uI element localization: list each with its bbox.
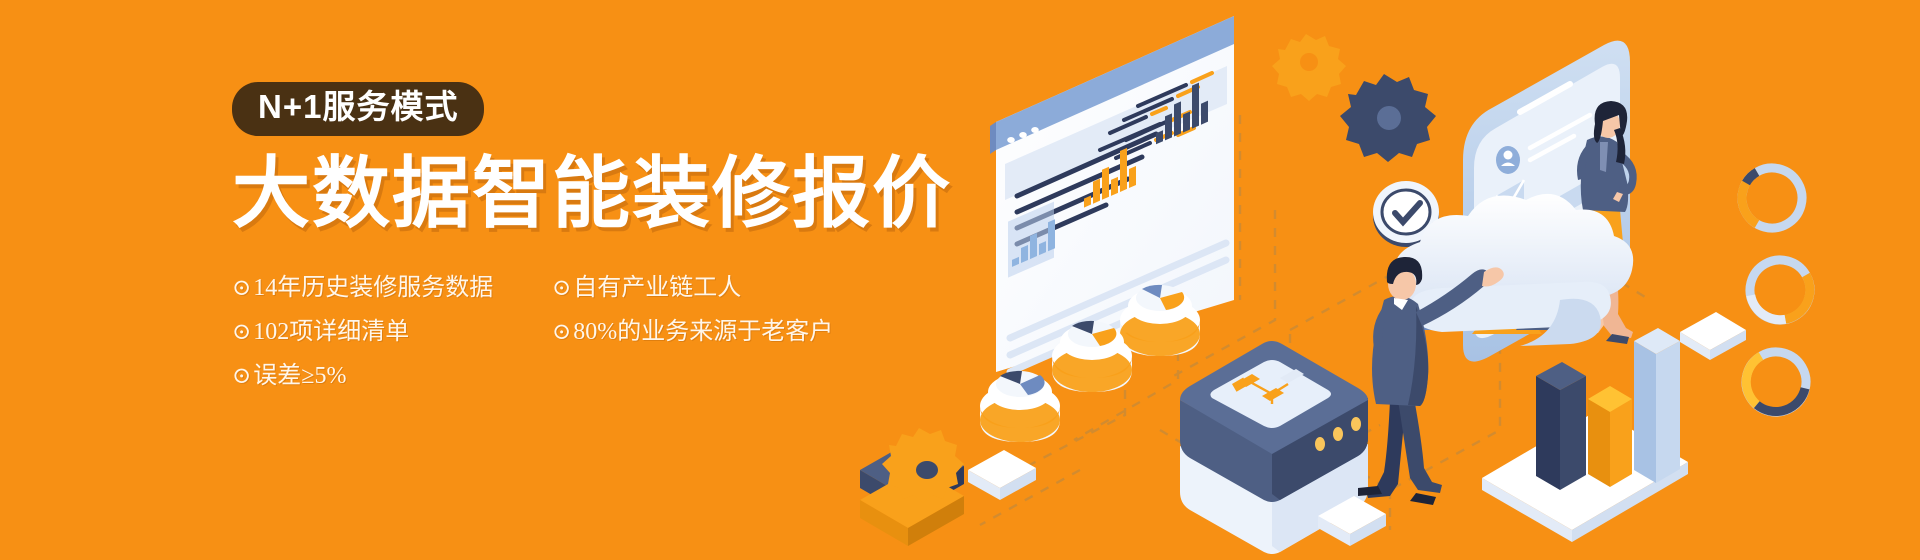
isometric-big-data-illustration xyxy=(860,0,1920,560)
list-item-label: 误差≥5% xyxy=(253,363,346,389)
list-item: ⊙误差≥5% xyxy=(232,354,542,398)
list-item-label: 102项详细清单 xyxy=(253,319,409,345)
avatar xyxy=(1496,146,1520,174)
circled-dot-icon: ⊙ xyxy=(232,319,251,344)
list-item-label: 自有产业链工人 xyxy=(573,275,741,301)
circled-dot-icon: ⊙ xyxy=(552,319,571,344)
bar-orange xyxy=(1588,386,1632,487)
bar-light-blue xyxy=(1634,328,1680,483)
donut-ring-3 xyxy=(1735,341,1817,423)
list-item-label: 14年历史装修服务数据 xyxy=(253,275,493,301)
promo-banner: N+1服务模式 大数据智能装修报价 ⊙14年历史装修服务数据 ⊙自有产业链工人 … xyxy=(0,0,1920,560)
service-mode-badge: N+1服务模式 xyxy=(232,82,484,136)
list-item: ⊙14年历史装修服务数据 xyxy=(232,266,542,310)
circled-dot-icon: ⊙ xyxy=(232,363,251,388)
gear-small xyxy=(1272,34,1346,101)
bar-navy xyxy=(1536,362,1586,490)
bar-chart-platform xyxy=(1482,328,1688,542)
donut-ring-2 xyxy=(1739,249,1821,331)
donut-ring-1 xyxy=(1731,157,1813,239)
list-item: ⊙80%的业务来源于老客户 xyxy=(552,310,862,354)
list-item: ⊙自有产业链工人 xyxy=(552,266,862,310)
gear-large xyxy=(1340,74,1436,162)
floating-tile-1 xyxy=(968,450,1036,500)
list-item: ⊙102项详细清单 xyxy=(232,310,542,354)
circled-dot-icon: ⊙ xyxy=(232,275,251,300)
stacked-cards xyxy=(1680,312,1746,360)
circled-dot-icon: ⊙ xyxy=(552,275,571,300)
list-item-label: 80%的业务来源于老客户 xyxy=(573,319,833,345)
